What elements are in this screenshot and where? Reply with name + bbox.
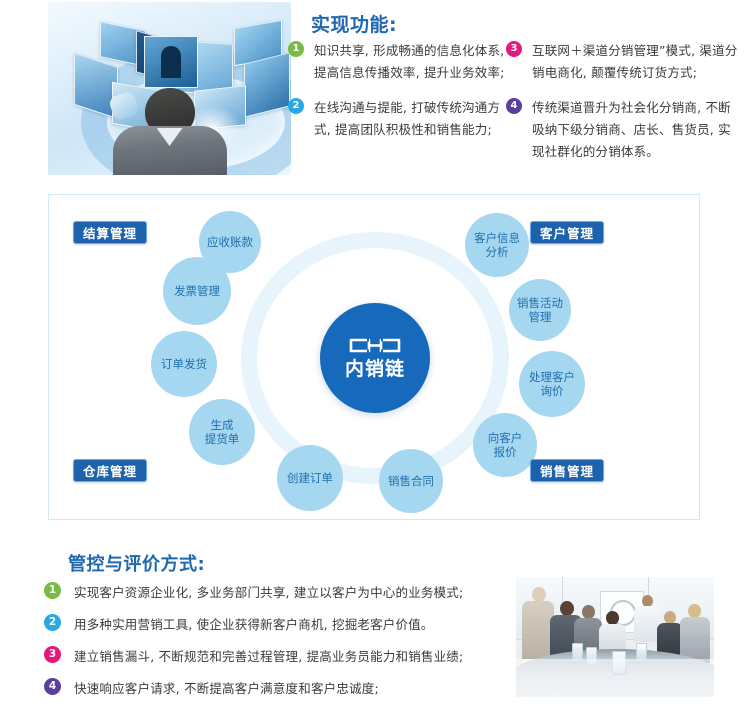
node-customer-info-analysis[interactable]: 客户信息 分析 xyxy=(465,213,529,277)
feature-badge-1: 1 xyxy=(288,41,304,57)
feature-badge-3: 3 xyxy=(506,41,522,57)
feature-item: 2 在线沟通与提能, 打破传统沟通方式, 提高团队积极性和销售能力; xyxy=(288,97,506,141)
control-badge-2: 2 xyxy=(44,614,61,631)
portrait-screen xyxy=(144,36,198,88)
features-title: 实现功能: xyxy=(311,10,397,37)
hub-label: 内销链 xyxy=(345,360,405,379)
tag-warehouse-management[interactable]: 仓库管理 xyxy=(73,459,147,482)
node-label: 客户信息 分析 xyxy=(474,231,520,259)
tag-label: 客户管理 xyxy=(540,223,594,242)
feature-text: 知识共享, 形成畅通的信息化体系, 提高信息传播效率, 提升业务效率; xyxy=(314,43,505,80)
node-sales-contract[interactable]: 销售合同 xyxy=(379,449,443,513)
node-order-shipment[interactable]: 订单发货 xyxy=(151,331,217,397)
hero-photo xyxy=(48,2,291,175)
node-generate-delivery-note[interactable]: 生成 提货单 xyxy=(189,399,255,465)
control-badge-1: 1 xyxy=(44,582,61,599)
tag-label: 结算管理 xyxy=(83,223,137,242)
tag-label: 销售管理 xyxy=(540,461,594,480)
control-badge-4: 4 xyxy=(44,678,61,695)
tag-label: 仓库管理 xyxy=(83,461,137,480)
feature-item: 3 互联网＋渠道分销管理”模式, 渠道分销电商化, 颠覆传统订货方式; xyxy=(506,40,738,84)
control-item: 3 建立销售漏斗, 不断规范和完善过程管理, 提高业务员能力和销售业绩; xyxy=(44,646,484,664)
control-section: 管控与评价方式: 1 实现客户资源企业化, 多业务部门共享, 建立以客户为中心的… xyxy=(0,540,750,726)
control-text: 建立销售漏斗, 不断规范和完善过程管理, 提高业务员能力和销售业绩; xyxy=(74,649,463,664)
tag-settlement-management[interactable]: 结算管理 xyxy=(73,221,147,244)
person-head xyxy=(606,611,619,625)
feature-text: 在线沟通与提能, 打破传统沟通方式, 提高团队积极性和销售能力; xyxy=(314,100,500,137)
feature-text: 互联网＋渠道分销管理”模式, 渠道分销电商化, 颠覆传统订货方式; xyxy=(532,43,738,80)
control-title: 管控与评价方式: xyxy=(68,550,205,576)
feature-item: 1 知识共享, 形成畅通的信息化体系, 提高信息传播效率, 提升业务效率; xyxy=(288,40,506,84)
feature-item: 4 传统渠道晋升为社会化分销商, 不断吸纳下级分销商、店长、售货员, 实现社群化… xyxy=(506,97,738,163)
diagram-panel: 内销链 应收账款 客户信息 分析 销售活动 管理 处理客户 询价 向客户 报价 … xyxy=(48,194,700,520)
node-label: 处理客户 询价 xyxy=(529,370,575,398)
node-create-order[interactable]: 创建订单 xyxy=(277,445,343,511)
control-list: 1 实现客户资源企业化, 多业务部门共享, 建立以客户为中心的业务模式; 2 用… xyxy=(44,582,484,710)
meeting-photo xyxy=(516,577,714,697)
node-sales-activity-management[interactable]: 销售活动 管理 xyxy=(509,279,571,341)
node-label: 创建订单 xyxy=(287,471,333,485)
floating-screen xyxy=(244,52,290,117)
cycle-diagram: 内销链 应收账款 客户信息 分析 销售活动 管理 处理客户 询价 向客户 报价 … xyxy=(49,195,701,521)
features-column-right: 3 互联网＋渠道分销管理”模式, 渠道分销电商化, 颠覆传统订货方式; 4 传统… xyxy=(506,40,738,176)
features-column-left: 1 知识共享, 形成畅通的信息化体系, 提高信息传播效率, 提升业务效率; 2 … xyxy=(288,40,506,154)
control-item: 4 快速响应客户请求, 不断提高客户满意度和客户忠诚度; xyxy=(44,678,484,696)
control-text: 实现客户资源企业化, 多业务部门共享, 建立以客户为中心的业务模式; xyxy=(74,585,463,600)
node-invoice-management[interactable]: 发票管理 xyxy=(163,257,231,325)
node-label: 销售活动 管理 xyxy=(517,296,563,324)
person-head xyxy=(560,601,574,616)
tag-sales-management[interactable]: 销售管理 xyxy=(530,459,604,482)
node-label: 订单发货 xyxy=(161,357,207,371)
person-head xyxy=(688,604,701,618)
feature-badge-4: 4 xyxy=(506,98,522,114)
node-label: 生成 提货单 xyxy=(205,418,240,446)
control-badge-3: 3 xyxy=(44,646,61,663)
node-label: 向客户 报价 xyxy=(488,431,523,459)
chain-link-icon xyxy=(348,337,402,358)
feature-text: 传统渠道晋升为社会化分销商, 不断吸纳下级分销商、店长、售货员, 实现社群化的分… xyxy=(532,100,731,159)
node-label: 销售合同 xyxy=(388,474,434,488)
node-quote-to-customer[interactable]: 向客户 报价 xyxy=(473,413,537,477)
features-section: 实现功能: 1 知识共享, 形成畅通的信息化体系, 提高信息传播效率, 提升业务… xyxy=(0,0,750,180)
node-label: 应收账款 xyxy=(207,235,253,249)
control-text: 快速响应客户请求, 不断提高客户满意度和客户忠诚度; xyxy=(74,681,379,696)
control-item: 2 用多种实用营销工具, 使企业获得新客户商机, 挖掘老客户价值。 xyxy=(44,614,484,632)
table-reflection xyxy=(516,659,714,697)
control-text: 用多种实用营销工具, 使企业获得新客户商机, 挖掘老客户价值。 xyxy=(74,617,434,632)
node-handle-customer-inquiry[interactable]: 处理客户 询价 xyxy=(519,351,585,417)
diagram-hub: 内销链 xyxy=(320,303,430,413)
node-label: 发票管理 xyxy=(174,284,220,298)
person-head xyxy=(582,605,595,619)
feature-badge-2: 2 xyxy=(288,98,304,114)
person-head xyxy=(532,587,546,602)
control-item: 1 实现客户资源企业化, 多业务部门共享, 建立以客户为中心的业务模式; xyxy=(44,582,484,600)
tag-customer-management[interactable]: 客户管理 xyxy=(530,221,604,244)
